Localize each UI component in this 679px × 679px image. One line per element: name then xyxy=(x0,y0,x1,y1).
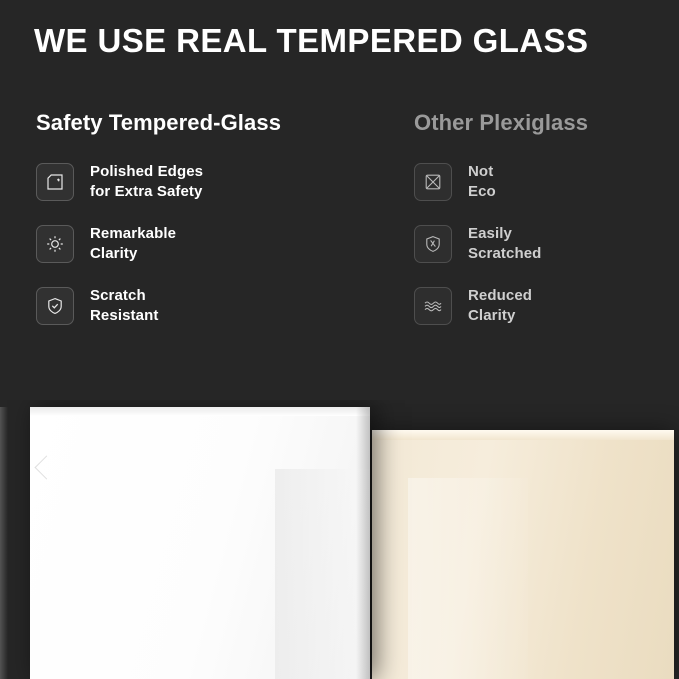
polished-corner-detail xyxy=(34,455,58,479)
feature-list: Polished Edges for Extra Safety Remarkab… xyxy=(36,162,366,326)
no-eco-crossed-icon xyxy=(414,163,452,201)
feature-item: Scratch Resistant xyxy=(36,286,366,326)
feature-line2: for Extra Safety xyxy=(90,182,203,202)
page-title: WE USE REAL TEMPERED GLASS xyxy=(34,22,588,60)
sun-clarity-icon xyxy=(36,225,74,263)
column-safety-tempered-glass: Safety Tempered-Glass Polished Edges for… xyxy=(36,108,366,348)
feature-line1: Scratch xyxy=(90,286,158,306)
promo-graphic: WE USE REAL TEMPERED GLASS Safety Temper… xyxy=(0,0,679,679)
feature-text: Polished Edges for Extra Safety xyxy=(90,162,203,202)
feature-text: Easily Scratched xyxy=(468,224,541,264)
feature-line1: Remarkable xyxy=(90,224,176,244)
feature-line2: Resistant xyxy=(90,306,158,326)
panel-left-edge xyxy=(0,407,8,679)
shield-check-icon xyxy=(36,287,74,325)
feature-line2: Eco xyxy=(468,182,496,202)
feature-list: Not Eco Easily Scratched xyxy=(414,162,664,326)
feature-text: Remarkable Clarity xyxy=(90,224,176,264)
plexiglass-beige-panel xyxy=(372,430,674,679)
column-title: Other Plexiglass xyxy=(414,108,664,138)
feature-line1: Polished Edges xyxy=(90,162,203,182)
feature-item: Easily Scratched xyxy=(414,224,664,264)
tempered-glass-white-panel xyxy=(30,407,370,679)
polished-edge-icon xyxy=(36,163,74,201)
shield-scratched-icon xyxy=(414,225,452,263)
column-title-line1: Other xyxy=(414,110,473,135)
feature-item: Polished Edges for Extra Safety xyxy=(36,162,366,202)
feature-item: Reduced Clarity xyxy=(414,286,664,326)
feature-line1: Not xyxy=(468,162,496,182)
feature-item: Not Eco xyxy=(414,162,664,202)
wavy-blur-icon xyxy=(414,287,452,325)
column-title: Safety Tempered-Glass xyxy=(36,108,366,138)
column-other-plexiglass: Other Plexiglass Not Eco xyxy=(414,108,664,348)
feature-line1: Easily xyxy=(468,224,541,244)
column-title-line2: Plexiglass xyxy=(479,110,588,135)
column-title-line1: Safety xyxy=(36,110,103,135)
feature-line2: Scratched xyxy=(468,244,541,264)
feature-line2: Clarity xyxy=(468,306,532,326)
feature-text: Reduced Clarity xyxy=(468,286,532,326)
column-title-line2: Tempered-Glass xyxy=(109,110,281,135)
glass-sheen xyxy=(275,469,370,679)
feature-line1: Reduced xyxy=(468,286,532,306)
feature-line2: Clarity xyxy=(90,244,176,264)
feature-item: Remarkable Clarity xyxy=(36,224,366,264)
product-photo xyxy=(0,400,679,679)
feature-text: Scratch Resistant xyxy=(90,286,158,326)
feature-text: Not Eco xyxy=(468,162,496,202)
